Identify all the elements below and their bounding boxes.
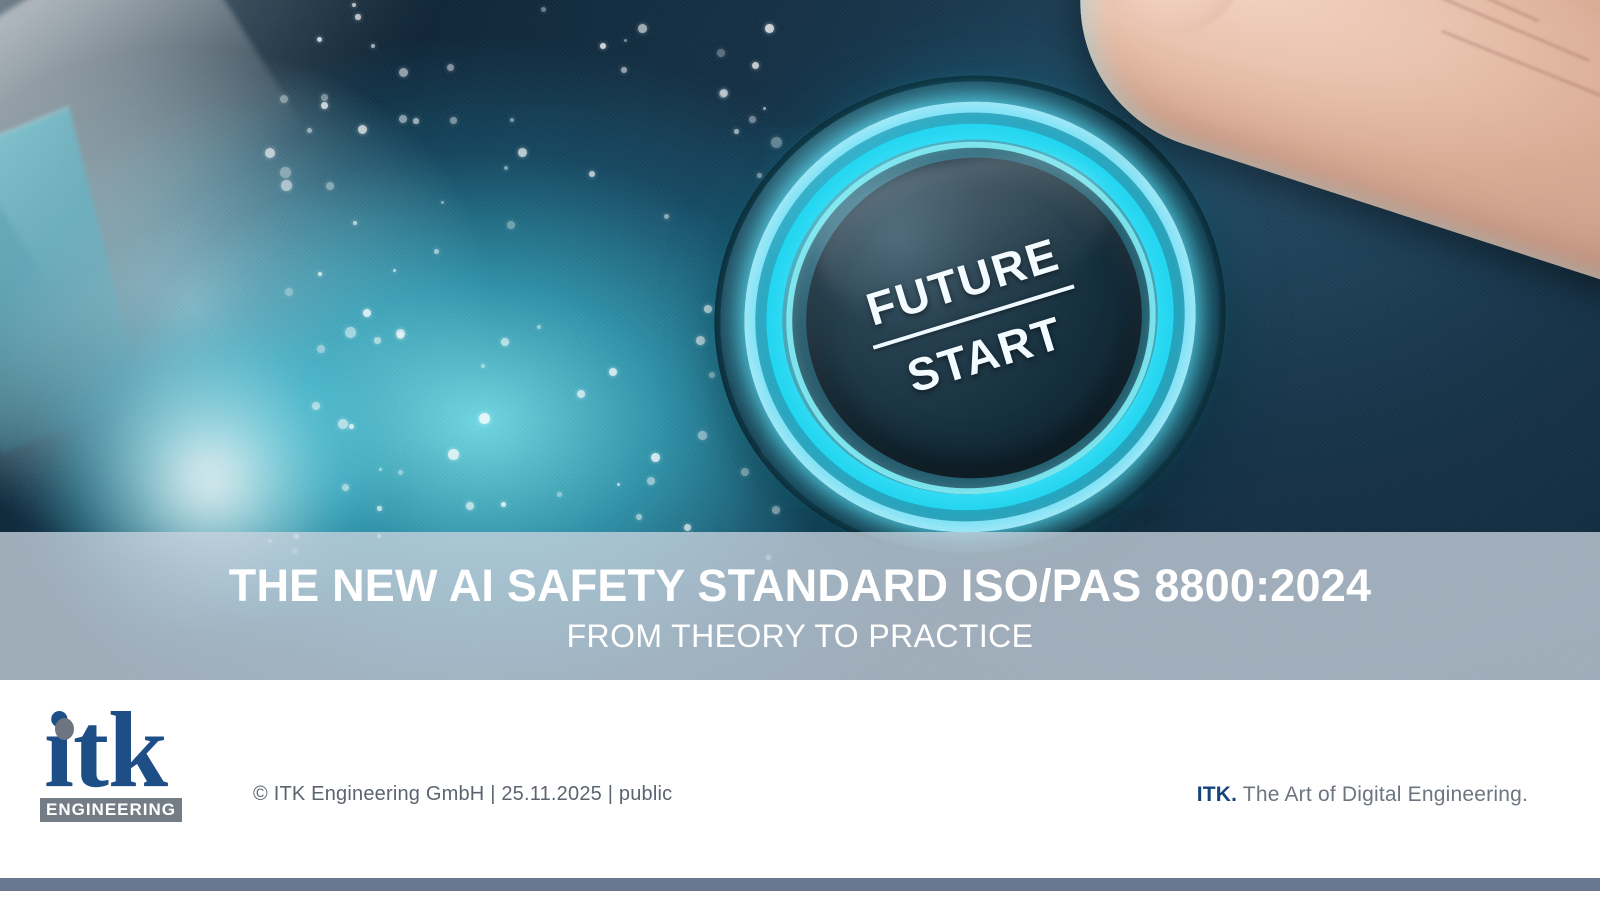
footer-copyright-meta: © ITK Engineering GmbH | 25.11.2025 | pu… [253, 783, 672, 806]
page-subtitle: FROM THEORY TO PRACTICE [567, 619, 1034, 654]
page-title: THE NEW AI SAFETY STANDARD ISO/PAS 8800:… [229, 562, 1371, 609]
slide-root: FUTURE START THE NEW AI SAFETY STANDARD … [0, 0, 1600, 900]
footer-tagline: ITK. The Art of Digital Engineering. [1197, 783, 1528, 807]
itk-logo-dot-icon [55, 718, 74, 740]
itk-logo-wordmark: ENGINEERING [40, 798, 182, 822]
title-band: THE NEW AI SAFETY STANDARD ISO/PAS 8800:… [0, 532, 1600, 680]
bottom-accent-bar [0, 878, 1600, 891]
footer: itk ENGINEERING © ITK Engineering GmbH |… [0, 680, 1600, 878]
bottom-filler [0, 891, 1600, 900]
footer-tagline-brand: ITK. [1197, 783, 1237, 806]
itk-logo-mark: itk [40, 708, 188, 794]
itk-logo: itk ENGINEERING [40, 708, 188, 822]
footer-tagline-text: The Art of Digital Engineering. [1237, 783, 1528, 806]
